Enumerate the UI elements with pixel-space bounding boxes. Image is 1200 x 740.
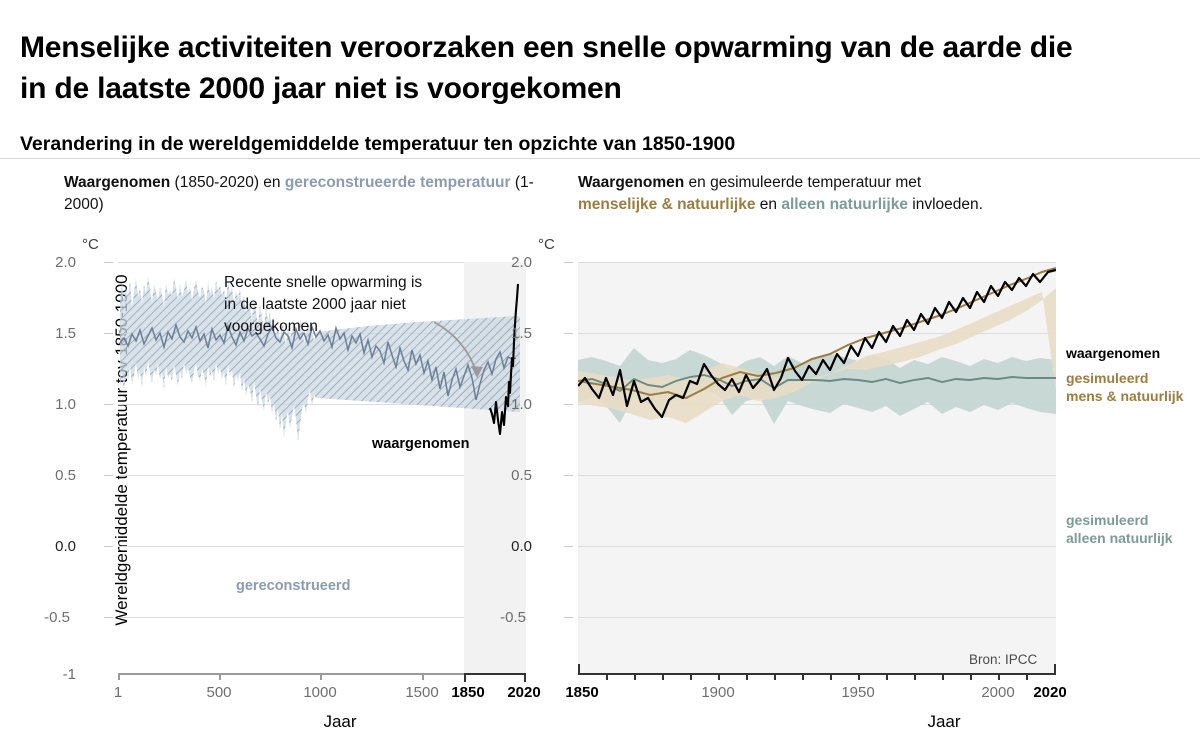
r-ytick-dash-1.0 [564, 404, 573, 405]
r-ytick-dash-2.0 [564, 262, 573, 263]
r-ytick-dash-1.5 [564, 333, 573, 334]
r-tick-1860 [606, 673, 608, 680]
r-ytick--0.5: -0.5 [480, 609, 526, 626]
r-ytick-0.5: 0.5 [486, 467, 532, 484]
right-chart: 2.0 1.5 1.0 0.5 0.0 -0.5 Bron [0, 0, 1200, 740]
right-label-natural-only: gesimuleerd alleen natuurlijk [1066, 512, 1173, 547]
r-tick-1900 [718, 673, 720, 680]
r-ytick-dash--0.5 [564, 617, 573, 618]
r-ytick-dash-0.0 [564, 546, 573, 547]
r-tick-cap-left [578, 664, 580, 674]
r-tick-2010 [1026, 673, 1028, 680]
r-ytick-dash-0.5 [564, 475, 573, 476]
r-tick-1910 [746, 673, 748, 680]
r-tick-1960 [886, 673, 888, 680]
right-x-axis-title: Jaar [927, 712, 960, 732]
r-xtick-2000: 2000 [981, 684, 1014, 701]
right-label-human-natural-line1: gesimuleerd [1066, 370, 1183, 388]
r-tick-cap-right [1054, 664, 1056, 674]
r-tick-1950 [858, 673, 860, 680]
r-xtick-1850: 1850 [565, 684, 598, 701]
right-label-natural-only-line2: alleen natuurlijk [1066, 530, 1173, 548]
r-xtick-1900: 1900 [701, 684, 734, 701]
r-tick-1930 [802, 673, 804, 680]
right-plot-area [578, 262, 1056, 674]
r-ytick-0.0: 0.0 [486, 538, 532, 555]
r-xtick-1950: 1950 [841, 684, 874, 701]
right-label-human-natural-line2: mens & natuurlijk [1066, 388, 1183, 406]
right-plot-svg [578, 262, 1056, 674]
r-tick-1940 [830, 673, 832, 680]
right-source-label: Bron: IPCC [969, 652, 1037, 667]
r-tick-1890 [690, 673, 692, 680]
r-tick-1990 [970, 673, 972, 680]
right-label-natural-only-line1: gesimuleerd [1066, 512, 1173, 530]
r-tick-1880 [662, 673, 664, 680]
r-ytick-1.0: 1.0 [486, 396, 532, 413]
right-label-human-natural: gesimuleerd mens & natuurlijk [1066, 370, 1183, 405]
r-tick-2000 [998, 673, 1000, 680]
r-tick-1970 [914, 673, 916, 680]
right-x-axis-line [578, 673, 1056, 675]
chart-page: Menselijke activiteiten veroorzaken een … [0, 0, 1200, 740]
r-xtick-2020: 2020 [1033, 684, 1066, 701]
right-label-observed: waargenomen [1066, 345, 1160, 363]
r-ytick-1.5: 1.5 [486, 325, 532, 342]
r-tick-1920 [774, 673, 776, 680]
r-tick-1980 [942, 673, 944, 680]
r-ytick-2.0: 2.0 [486, 254, 532, 271]
r-tick-1870 [634, 673, 636, 680]
